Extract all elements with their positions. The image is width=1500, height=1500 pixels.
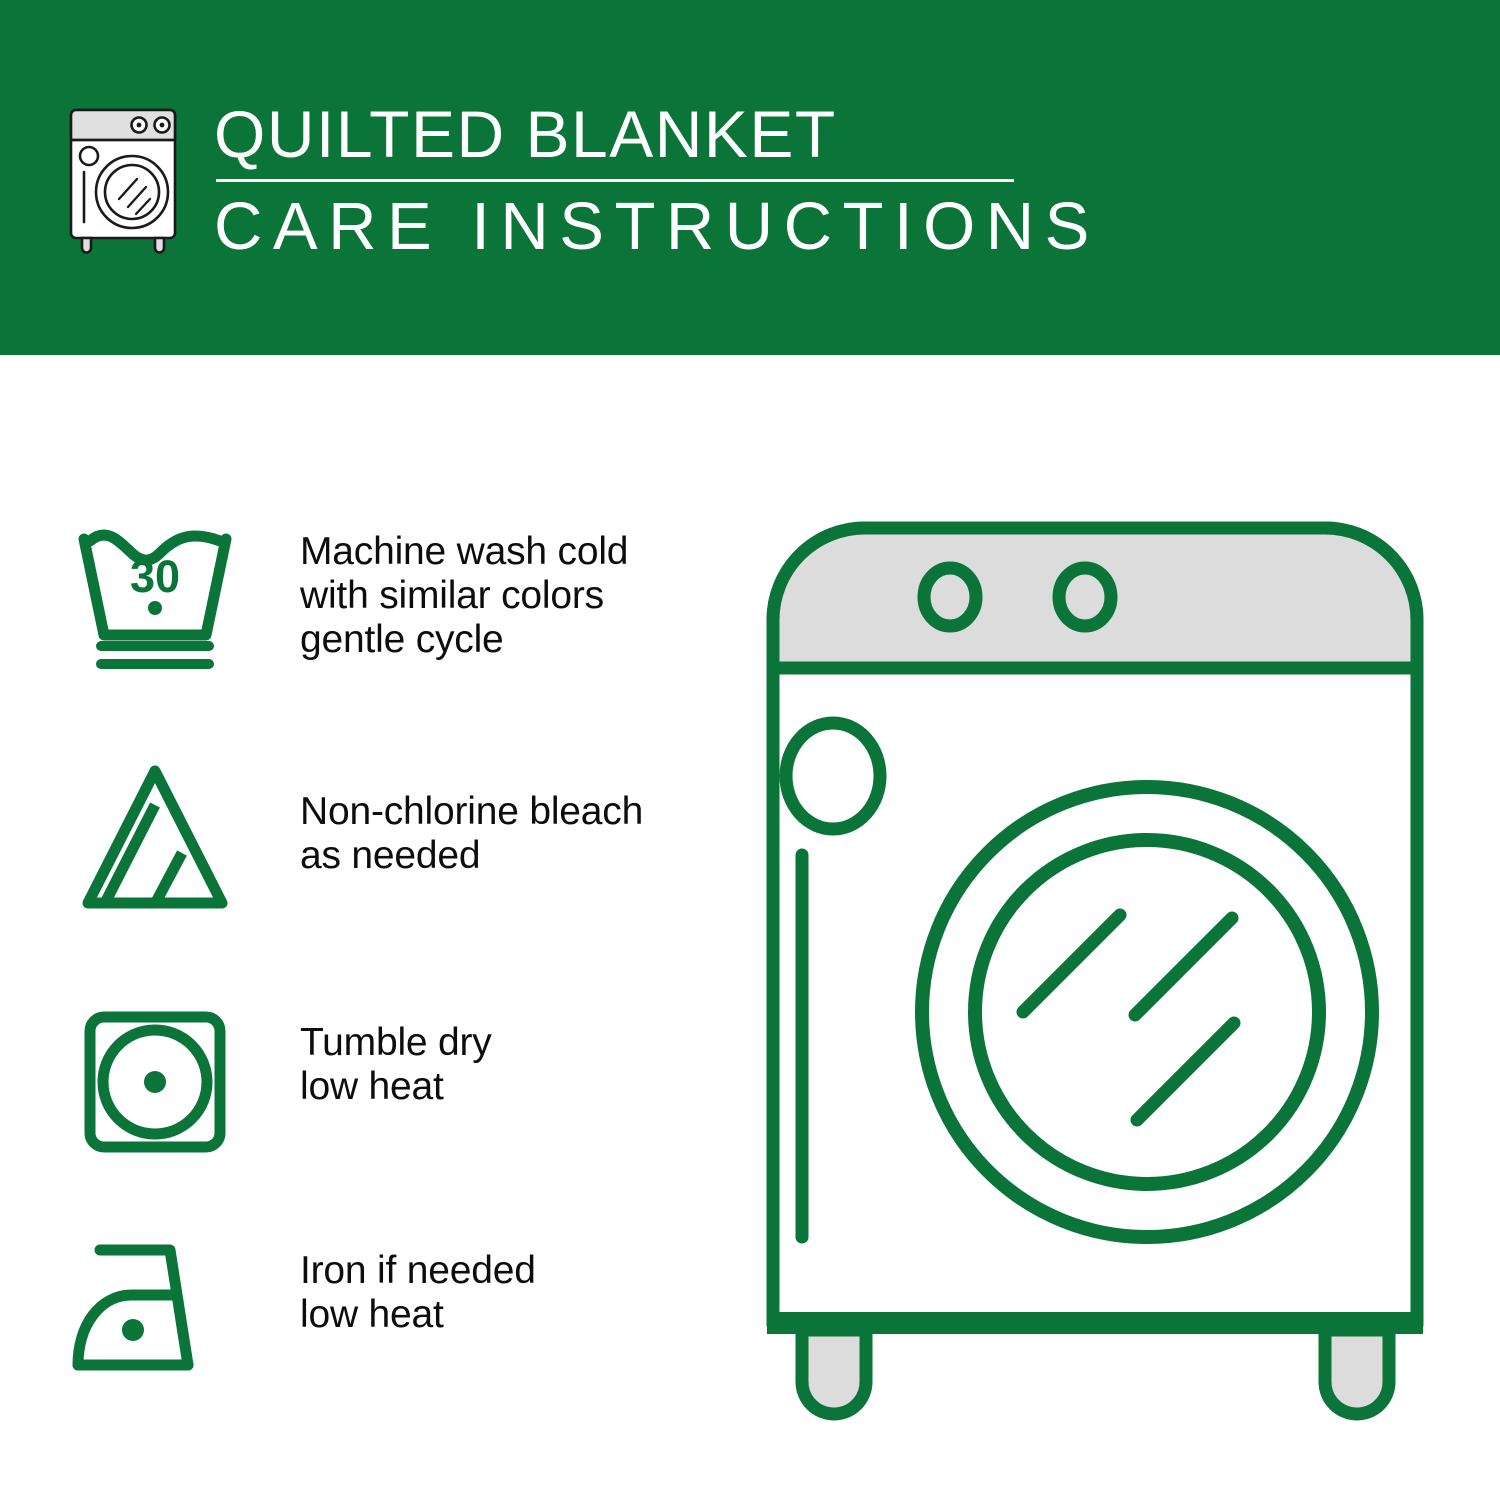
- care-text-line: Iron if needed: [300, 1249, 536, 1293]
- care-item-text: Iron if needed low heat: [300, 1249, 536, 1337]
- header-content: QUILTED BLANKET CARE INSTRUCTIONS: [62, 98, 1062, 273]
- iron-icon: [70, 1225, 240, 1395]
- wash-temperature-label: 30: [130, 551, 180, 602]
- care-text-line: gentle cycle: [300, 618, 628, 662]
- page-title: QUILTED BLANKET: [214, 98, 1080, 170]
- care-text-line: Machine wash cold: [300, 530, 628, 574]
- detergent-dial: [786, 723, 880, 829]
- care-text-line: Tumble dry: [300, 1021, 492, 1065]
- care-item-tumble-dry: Tumble dry low heat: [70, 985, 710, 1225]
- header-titles: QUILTED BLANKET CARE INSTRUCTIONS: [214, 98, 1080, 265]
- title-divider: [216, 179, 1014, 182]
- care-text-line: Non-chlorine bleach: [300, 790, 643, 834]
- knob-right: [1059, 568, 1111, 626]
- knob-left: [924, 568, 976, 626]
- care-text-line: low heat: [300, 1065, 492, 1109]
- care-item-text: Tumble dry low heat: [300, 1021, 492, 1109]
- care-text-line: low heat: [300, 1293, 536, 1337]
- page-subtitle: CARE INSTRUCTIONS: [214, 189, 1080, 265]
- tumble-dry-icon: [70, 995, 240, 1165]
- care-item-machine-wash: 30 Machine wash cold with similar colors…: [70, 505, 710, 745]
- header-banner: QUILTED BLANKET CARE INSTRUCTIONS: [0, 0, 1500, 355]
- leg-left: [802, 1330, 866, 1414]
- care-item-bleach: Non-chlorine bleach as needed: [70, 745, 710, 985]
- care-instruction-list: 30 Machine wash cold with similar colors…: [70, 505, 710, 1405]
- care-item-iron: Iron if needed low heat: [70, 1225, 710, 1405]
- leg-right: [1325, 1330, 1389, 1414]
- bleach-triangle-icon: [70, 755, 240, 925]
- care-item-text: Machine wash cold with similar colors ge…: [300, 530, 628, 662]
- washing-machine-illustration: [745, 500, 1445, 1440]
- care-item-text: Non-chlorine bleach as needed: [300, 790, 643, 878]
- care-text-line: with similar colors: [300, 574, 628, 618]
- care-text-line: as needed: [300, 834, 643, 878]
- washing-machine-icon: [62, 104, 192, 256]
- wash-tub-30-icon: 30: [70, 505, 240, 675]
